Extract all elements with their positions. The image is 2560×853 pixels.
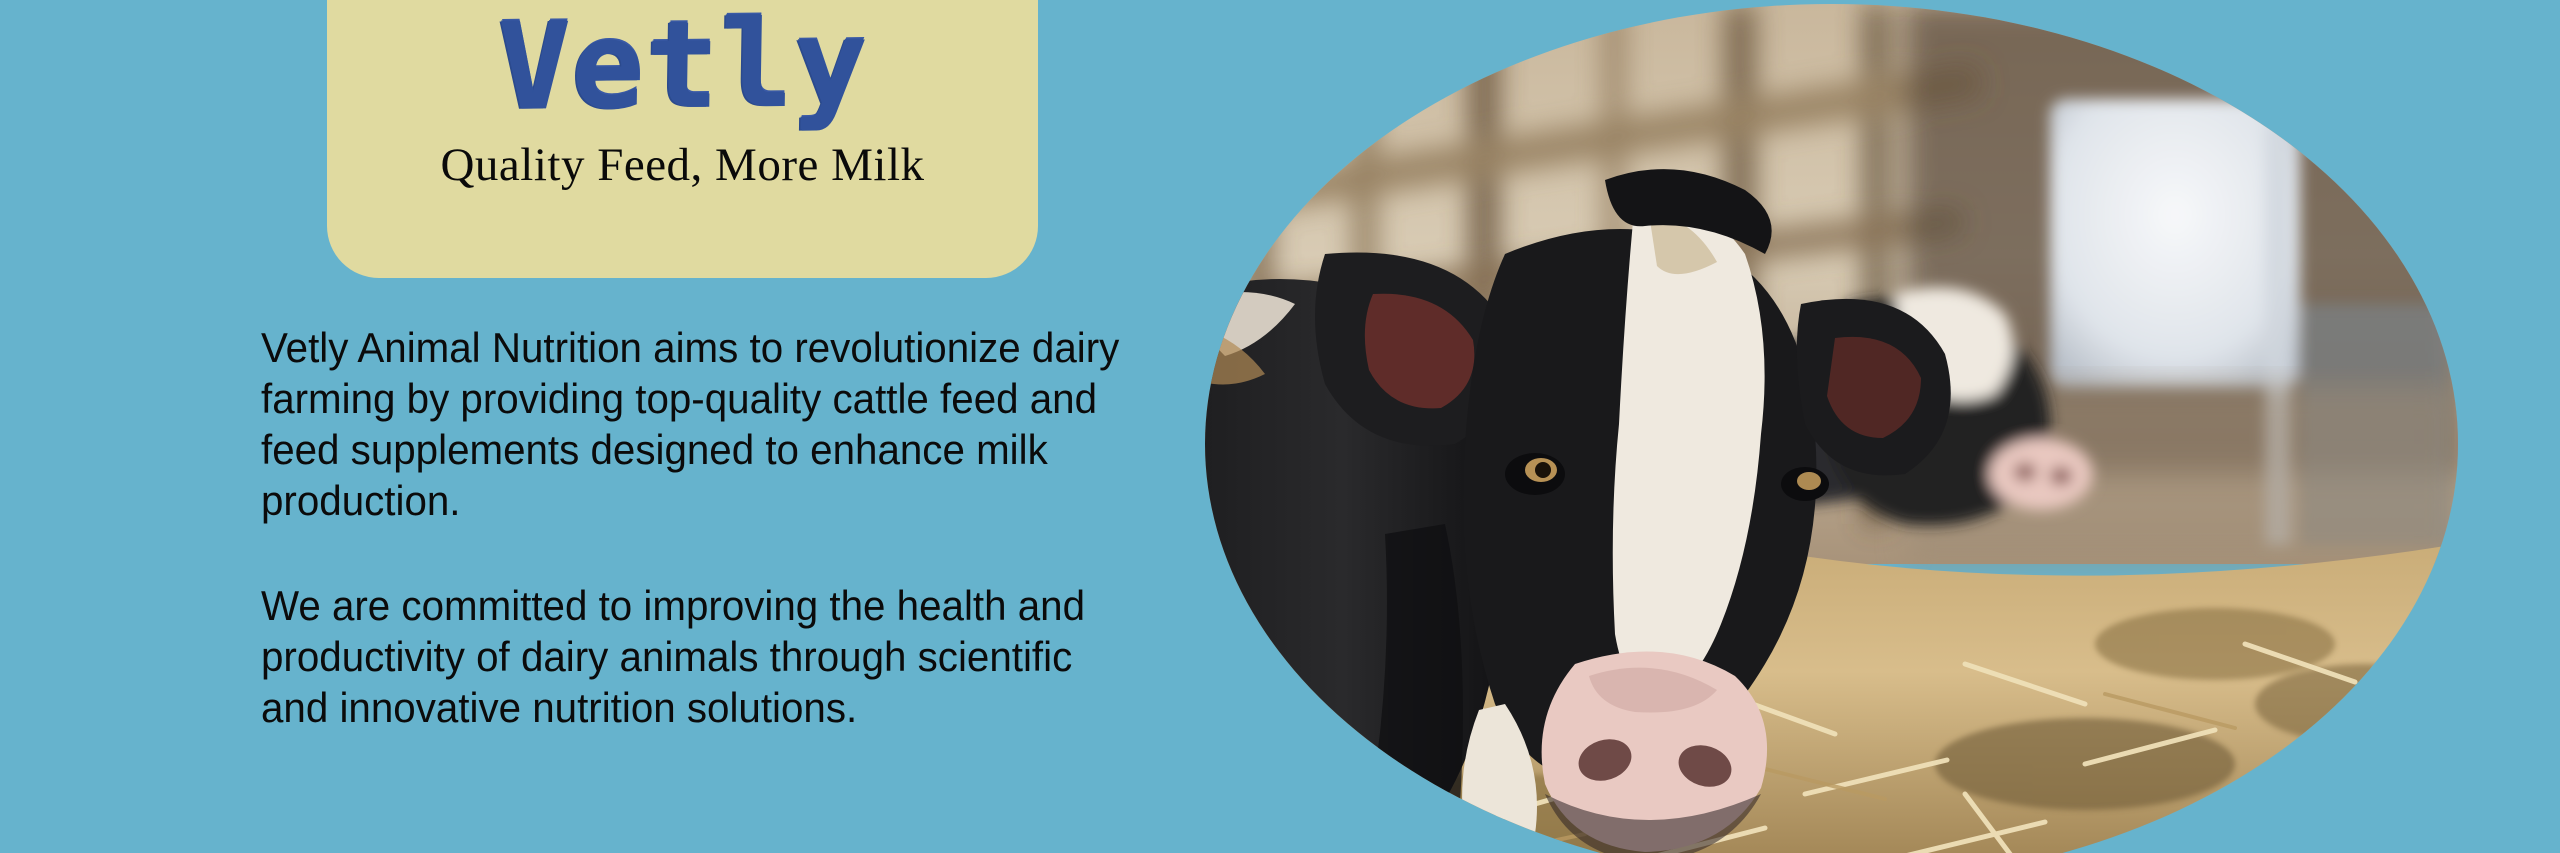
brand-wordmark: Vetly [496,4,869,128]
barn-cows-illustration [1205,4,2458,853]
brand-tagline: Quality Feed, More Milk [440,138,924,192]
vetly-hero-banner: Vetly Quality Feed, More Milk Vetly Anim… [0,0,2560,853]
intro-paragraph-2: We are committed to improving the health… [261,580,1125,733]
cow-photo-oval [1205,4,2458,853]
intro-paragraph-1: Vetly Animal Nutrition aims to revolutio… [261,322,1125,526]
intro-copy-block: Vetly Animal Nutrition aims to revolutio… [261,322,1161,733]
logo-card: Vetly Quality Feed, More Milk [327,0,1038,278]
